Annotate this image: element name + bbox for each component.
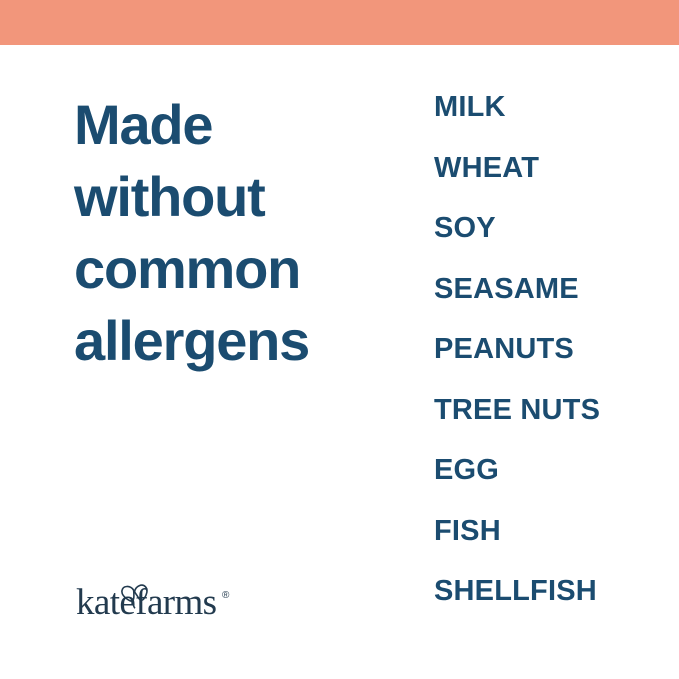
allergen-info-graphic: Made without common allergens katefarms …	[0, 0, 679, 679]
page-title: Made without common allergens	[74, 89, 404, 377]
allergen-list: MILK WHEAT SOY SEASAME PEANUTS TREE NUTS…	[434, 91, 600, 636]
content-area: Made without common allergens katefarms …	[0, 45, 679, 679]
list-item: PEANUTS	[434, 333, 600, 394]
list-item: EGG	[434, 454, 600, 515]
list-item: SHELLFISH	[434, 575, 600, 636]
brand-logo: katefarms ®	[76, 570, 256, 626]
list-item: WHEAT	[434, 152, 600, 213]
katefarms-logo-svg: katefarms ®	[76, 570, 256, 626]
right-column: MILK WHEAT SOY SEASAME PEANUTS TREE NUTS…	[434, 45, 679, 679]
list-item: TREE NUTS	[434, 394, 600, 455]
list-item: MILK	[434, 91, 600, 152]
top-color-band	[0, 0, 679, 45]
list-item: FISH	[434, 515, 600, 576]
left-column: Made without common allergens katefarms …	[74, 45, 404, 679]
list-item: SOY	[434, 212, 600, 273]
registered-trademark-symbol: ®	[222, 590, 230, 601]
list-item: SEASAME	[434, 273, 600, 334]
brand-wordmark: katefarms	[76, 582, 217, 623]
